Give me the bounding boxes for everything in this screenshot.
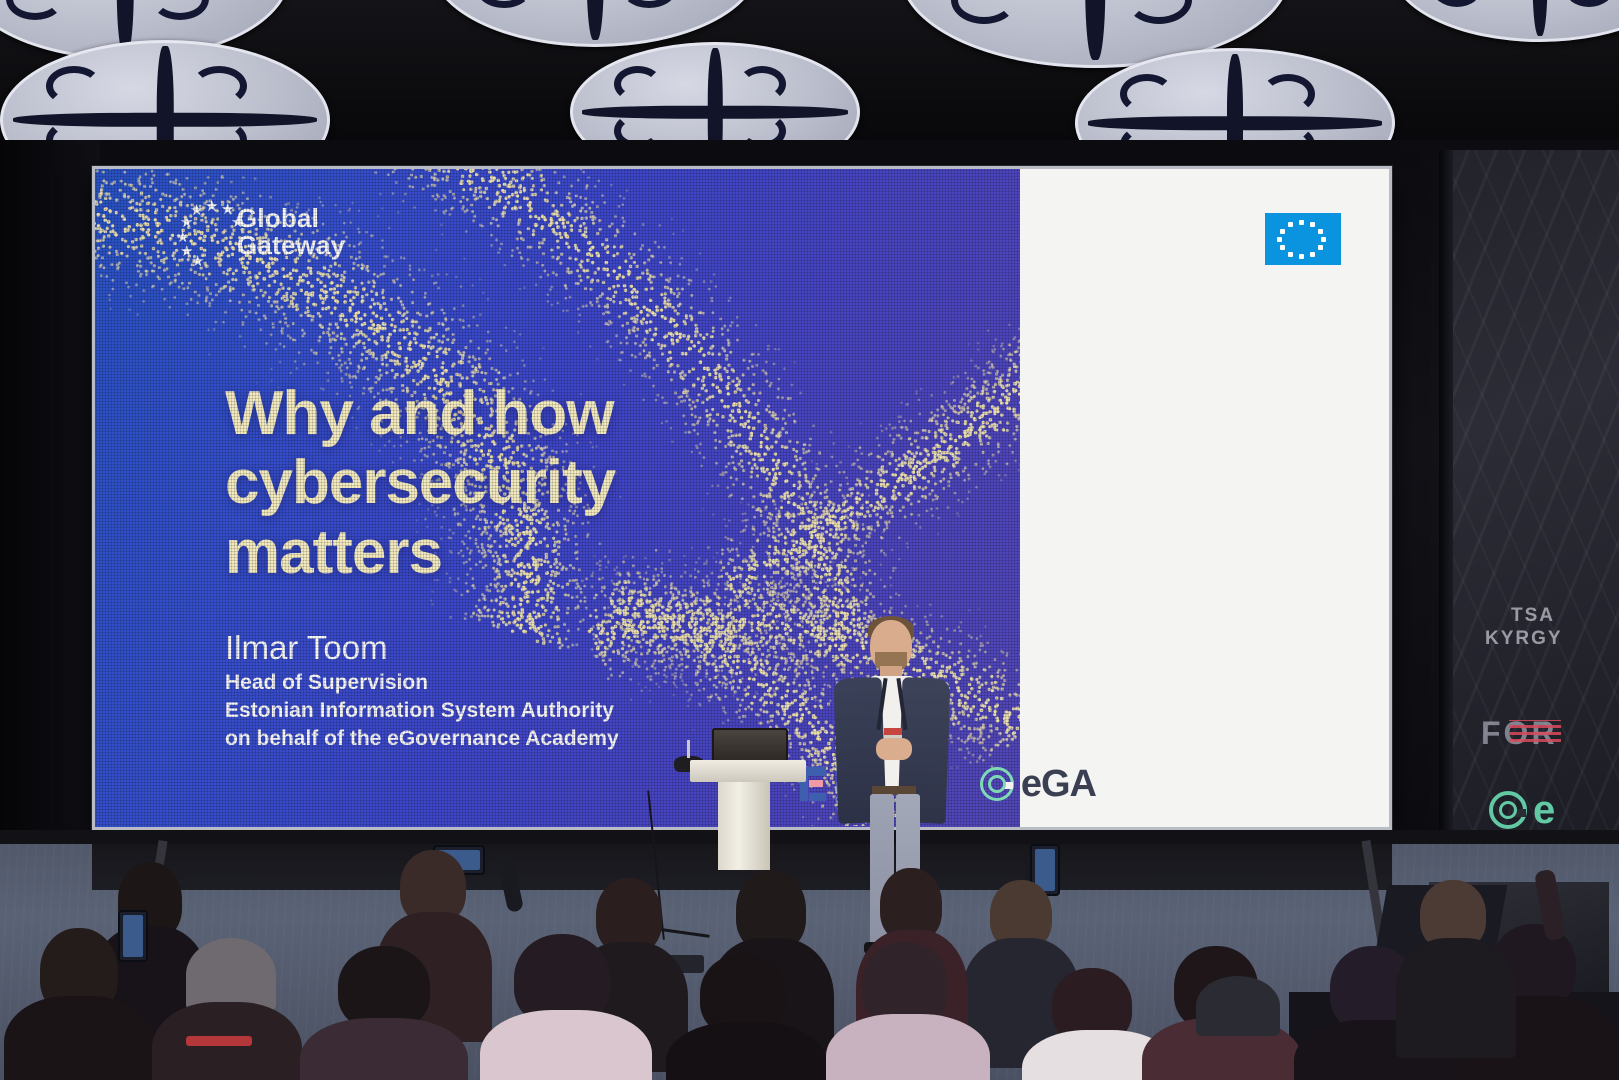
ceiling-panel xyxy=(570,42,860,150)
presenter-trouser-right xyxy=(896,794,920,950)
ceiling-panel xyxy=(1390,0,1619,42)
eu-stars-circle-icon: ★ ★ ★ ★ ★ ★ ★ ★ xyxy=(175,199,245,265)
ega-spiral-icon xyxy=(1489,791,1527,829)
speaker-podium xyxy=(700,760,796,870)
banner-red-accent xyxy=(1509,720,1561,742)
slide-title: Why and how cybersecurity matters xyxy=(225,379,615,587)
speaker-name: Ilmar Toom xyxy=(225,629,619,667)
ceiling-panel xyxy=(1075,48,1395,150)
venue-banner: TSA KYRGY FOR e xyxy=(1439,150,1619,910)
speaker-role: Head of Supervision xyxy=(225,669,619,697)
global-gateway-wordmark: Global Gateway xyxy=(237,205,345,258)
podium-column xyxy=(718,782,770,870)
banner-ega-letter: e xyxy=(1533,790,1555,830)
logo-line-1: Global xyxy=(237,205,345,232)
ega-wordmark: eGA xyxy=(1021,765,1096,803)
ceiling-decorations xyxy=(0,0,1619,150)
stage-front-edge xyxy=(0,830,1619,844)
presenter-person xyxy=(820,620,960,950)
banner-line-2: KYRGY xyxy=(1485,628,1563,650)
presenter-shoe-right xyxy=(894,942,926,954)
left-wall-panel xyxy=(0,140,100,900)
banner-edge xyxy=(1439,150,1453,910)
speaker-organisation: Estonian Information System Authority xyxy=(225,697,619,725)
podium-top xyxy=(690,760,806,782)
banner-ega-logo: e xyxy=(1489,790,1555,830)
logo-line-2: Gateway xyxy=(237,232,345,259)
presenter-trouser-left xyxy=(870,794,894,950)
ceiling-panel xyxy=(430,0,760,47)
global-gateway-logo: ★ ★ ★ ★ ★ ★ ★ ★ Global Gateway xyxy=(175,199,345,265)
stage-floor-box xyxy=(660,955,704,973)
conference-stage-photo: TSA KYRGY FOR e xyxy=(0,0,1619,1080)
ega-logo: eGA xyxy=(980,765,1096,803)
banner-line-1: TSA xyxy=(1511,605,1555,627)
presenter-shoe-left xyxy=(864,942,896,954)
ega-spiral-icon xyxy=(980,767,1014,801)
speaker-credit-block: Ilmar Toom Head of Supervision Estonian … xyxy=(225,629,619,753)
presenter-hands xyxy=(876,738,912,760)
ceiling-panel xyxy=(0,40,330,150)
speaker-on-behalf: on behalf of the eGovernance Academy xyxy=(225,725,619,753)
slide-white-panel: EXPERTISE FRANCE GROUPE AFD eGA xyxy=(1020,169,1389,827)
european-union-flag xyxy=(1265,213,1341,265)
